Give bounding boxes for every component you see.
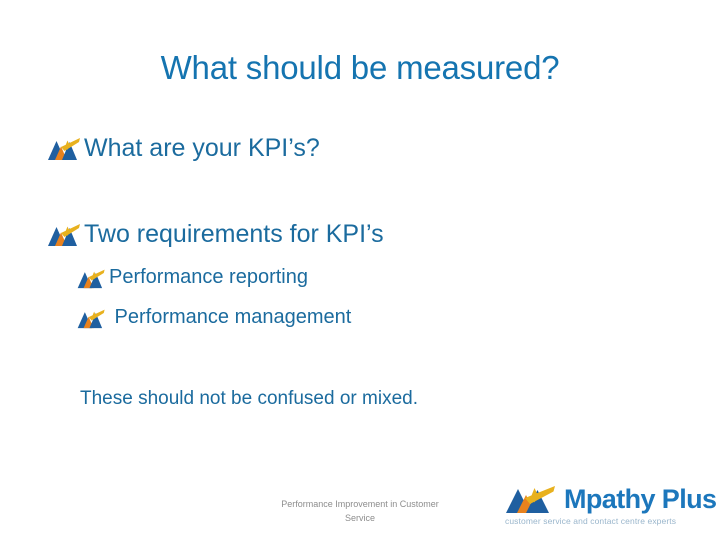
mpathy-chevron-bullet-icon	[46, 220, 84, 248]
bullet-item-2: Two requirements for KPI’s	[46, 219, 384, 249]
slide-canvas: What should be measured? What are your K…	[0, 0, 720, 540]
bullet-item-3: Performance reporting	[76, 265, 308, 290]
brand-tagline: customer service and contact centre expe…	[505, 516, 705, 527]
bullet-item-1: What are your KPI’s?	[46, 133, 320, 163]
closing-paragraph: These should not be confused or mixed.	[80, 387, 418, 411]
bullet-item-2-label: Two requirements for KPI’s	[84, 219, 384, 249]
brand-logo: Mpathy Plus customer service and contact…	[505, 484, 705, 530]
footer-note: Performance Improvement in Customer Serv…	[215, 497, 505, 525]
slide-body: What are your KPI’s? Two requirements fo…	[0, 120, 720, 440]
mpathy-chevron-bullet-icon	[76, 266, 108, 290]
bullet-item-1-label: What are your KPI’s?	[84, 133, 320, 163]
brand-wordmark: Mpathy Plus	[564, 485, 716, 514]
bullet-item-4-label: Performance management	[109, 305, 351, 330]
bullet-item-3-label: Performance reporting	[109, 265, 308, 290]
mpathy-chevron-bullet-icon	[76, 306, 108, 330]
bullet-item-4: Performance management	[76, 305, 351, 330]
mpathy-chevron-logo-icon	[505, 484, 561, 515]
footer-note-line-1: Performance Improvement in Customer	[215, 497, 505, 511]
footer-note-line-2: Service	[215, 511, 505, 525]
page-title: What should be measured?	[0, 48, 720, 88]
mpathy-chevron-bullet-icon	[46, 134, 84, 162]
brand-logo-row: Mpathy Plus	[505, 484, 705, 515]
